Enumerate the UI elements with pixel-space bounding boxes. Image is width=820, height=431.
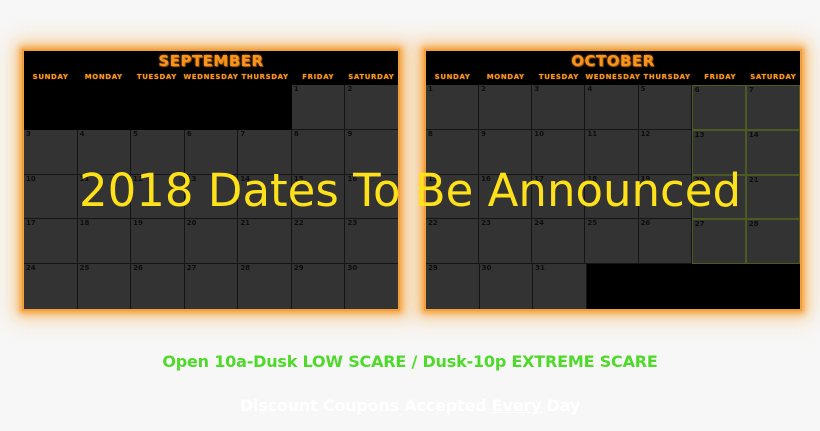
day-number: 2 [347,85,352,94]
week-row: 17181920212223 [24,219,398,264]
week-row: 10111213141516 [24,175,398,220]
day-number: 8 [294,130,299,139]
day-cell-empty [747,264,800,309]
day-number: 25 [80,264,90,273]
day-number: 18 [80,219,90,228]
day-number: 16 [347,175,357,184]
day-cell[interactable]: 13 [185,175,239,220]
day-number: 7 [240,130,245,139]
day-cell[interactable]: 28 [746,219,800,264]
day-cell[interactable]: 15 [426,175,479,220]
weekday-label-tuesday: TUESDAY [532,71,585,85]
day-cell[interactable]: 10 [24,175,78,220]
day-cell[interactable]: 19 [131,219,185,264]
day-number: 18 [587,175,597,184]
week-row: 15161718192021 [426,175,800,220]
day-number: 5 [133,130,138,139]
footer-hours-text: Open 10a-Dusk LOW SCARE / Dusk-10p EXTRE… [0,352,820,372]
day-number: 22 [294,219,304,228]
day-number: 6 [695,86,700,95]
day-number: 20 [695,176,705,185]
day-cell-empty [185,85,239,130]
day-number: 30 [347,264,357,273]
day-cell[interactable]: 22 [292,219,346,264]
day-cell-empty [238,85,292,130]
day-number: 29 [294,264,304,273]
day-cell[interactable]: 30 [480,264,534,309]
week-row: 293031 [426,264,800,309]
weekday-label-saturday: SATURDAY [345,71,398,85]
month-title-september: SEPTEMBER [24,51,398,71]
week-row: 1234567 [426,85,800,130]
day-cell[interactable]: 18 [78,219,132,264]
day-number: 15 [294,175,304,184]
day-number: 8 [428,130,433,139]
month-title-october: OCTOBER [426,51,800,71]
day-cell-empty [694,264,748,309]
day-cell[interactable]: 25 [585,219,638,264]
weekday-label-monday: MONDAY [479,71,532,85]
day-number: 15 [428,175,438,184]
weekday-header-october: SUNDAYMONDAYTUESDAYWEDNESDAYTHURSDAYFRID… [426,71,800,85]
week-row: 22232425262728 [426,219,800,264]
weekday-label-wednesday: WEDNESDAY [585,71,640,85]
day-number: 9 [481,130,486,139]
day-number: 9 [347,130,352,139]
weekday-label-saturday: SATURDAY [747,71,800,85]
weekday-label-thursday: THURSDAY [641,71,694,85]
day-cell[interactable]: 8 [292,130,346,175]
day-number: 13 [695,131,705,140]
day-cell[interactable]: 24 [24,264,78,309]
weekday-header-september: SUNDAYMONDAYTUESDAYWEDNESDAYTHURSDAYFRID… [24,71,398,85]
day-number: 11 [80,175,90,184]
day-cell[interactable]: 17 [532,175,585,220]
day-number: 12 [133,175,143,184]
day-cell-empty [78,85,132,130]
day-cell[interactable]: 14 [238,175,292,220]
calendar-september: SEPTEMBER SUNDAYMONDAYTUESDAYWEDNESDAYTH… [22,49,400,311]
page-root: SEPTEMBER SUNDAYMONDAYTUESDAYWEDNESDAYTH… [0,0,820,431]
day-number: 19 [641,175,651,184]
day-number: 24 [534,219,544,228]
day-number: 1 [428,85,433,94]
day-number: 3 [26,130,31,139]
day-cell[interactable]: 26 [131,264,185,309]
day-number: 5 [641,85,646,94]
day-number: 31 [535,264,545,273]
day-number: 23 [347,219,357,228]
day-cell-empty [131,85,185,130]
day-cell[interactable]: 29 [292,264,346,309]
day-number: 25 [587,219,597,228]
day-cell[interactable]: 12 [639,130,692,175]
weekday-label-sunday: SUNDAY [24,71,77,85]
day-cell[interactable]: 11 [585,130,638,175]
day-cell[interactable]: 28 [238,264,292,309]
day-cell[interactable]: 15 [292,175,346,220]
day-number: 21 [240,219,250,228]
day-number: 27 [695,220,705,229]
day-number: 30 [482,264,492,273]
day-cell[interactable]: 4 [78,130,132,175]
day-cell[interactable]: 22 [426,219,479,264]
day-cell[interactable]: 23 [345,219,398,264]
day-number: 13 [187,175,197,184]
day-cell[interactable]: 31 [533,264,587,309]
day-cell[interactable]: 27 [692,219,746,264]
day-cell[interactable]: 9 [479,130,532,175]
day-number: 14 [749,131,759,140]
week-row: 3456789 [24,130,398,175]
day-cell[interactable]: 1 [292,85,346,130]
day-cell[interactable]: 2 [345,85,398,130]
day-cell-empty [587,264,641,309]
day-cell[interactable]: 23 [479,219,532,264]
day-number: 24 [26,264,36,273]
day-number: 28 [240,264,250,273]
day-cell[interactable]: 21 [238,219,292,264]
day-number: 26 [641,219,651,228]
day-cell-empty [24,85,78,130]
day-cell[interactable]: 30 [345,264,398,309]
week-row: 24252627282930 [24,264,398,309]
day-cell[interactable]: 18 [585,175,638,220]
day-number: 10 [534,130,544,139]
day-cell[interactable]: 9 [345,130,398,175]
calendar-october: OCTOBER SUNDAYMONDAYTUESDAYWEDNESDAYTHUR… [424,49,802,311]
day-cell[interactable]: 2 [479,85,532,130]
day-number: 10 [26,175,36,184]
weekday-label-thursday: THURSDAY [239,71,292,85]
day-number: 11 [587,130,597,139]
day-grid-september: 1234567891011121314151617181920212223242… [24,85,398,309]
day-cell[interactable]: 11 [78,175,132,220]
day-cell[interactable]: 6 [185,130,239,175]
day-cell[interactable]: 5 [131,130,185,175]
day-number: 17 [26,219,36,228]
day-cell[interactable]: 13 [692,130,746,175]
day-number: 12 [641,130,651,139]
day-cell[interactable]: 5 [639,85,692,130]
day-cell[interactable]: 26 [639,219,692,264]
day-cell[interactable]: 16 [479,175,532,220]
day-number: 7 [749,86,754,95]
day-number: 22 [428,219,438,228]
day-number: 17 [534,175,544,184]
day-number: 27 [187,264,197,273]
day-cell[interactable]: 19 [639,175,692,220]
weekday-label-wednesday: WEDNESDAY [183,71,238,85]
weekday-label-monday: MONDAY [77,71,130,85]
day-cell[interactable]: 16 [345,175,398,220]
day-cell[interactable]: 1 [426,85,479,130]
day-number: 2 [481,85,486,94]
day-number: 19 [133,219,143,228]
weekday-label-tuesday: TUESDAY [130,71,183,85]
day-cell[interactable]: 27 [185,264,239,309]
day-number: 29 [428,264,438,273]
day-number: 28 [749,220,759,229]
day-number: 4 [80,130,85,139]
day-grid-october: 1234567891011121314151617181920212223242… [426,85,800,309]
day-cell[interactable]: 21 [746,175,800,220]
calendars-container: SEPTEMBER SUNDAYMONDAYTUESDAYWEDNESDAYTH… [0,49,820,313]
day-cell[interactable]: 20 [692,175,746,220]
day-cell[interactable]: 17 [24,219,78,264]
day-cell[interactable]: 8 [426,130,479,175]
week-row: 12 [24,85,398,130]
weekday-label-friday: FRIDAY [694,71,747,85]
day-cell[interactable]: 4 [585,85,638,130]
day-cell[interactable]: 29 [426,264,480,309]
weekday-label-sunday: SUNDAY [426,71,479,85]
day-number: 3 [534,85,539,94]
day-number: 1 [294,85,299,94]
day-cell[interactable]: 12 [131,175,185,220]
day-number: 6 [187,130,192,139]
day-number: 23 [481,219,491,228]
week-row: 891011121314 [426,130,800,175]
day-cell[interactable]: 7 [746,85,800,130]
day-cell[interactable]: 25 [78,264,132,309]
day-cell[interactable]: 20 [185,219,239,264]
day-cell-empty [640,264,694,309]
day-number: 21 [749,176,759,185]
day-number: 20 [187,219,197,228]
day-cell[interactable]: 24 [532,219,585,264]
day-cell[interactable]: 3 [532,85,585,130]
day-number: 16 [481,175,491,184]
day-cell[interactable]: 10 [532,130,585,175]
day-number: 14 [240,175,250,184]
day-number: 26 [133,264,143,273]
day-number: 4 [587,85,592,94]
day-cell[interactable]: 3 [24,130,78,175]
footer-coupons-text: Discount Coupons Accepted Every Day [0,396,820,416]
coupons-emphasis: Every [492,396,542,415]
coupons-prefix: Discount Coupons Accepted [240,396,492,415]
coupons-suffix: Day [541,396,580,415]
weekday-label-friday: FRIDAY [292,71,345,85]
day-cell[interactable]: 7 [238,130,292,175]
day-cell[interactable]: 6 [692,85,746,130]
day-cell[interactable]: 14 [746,130,800,175]
